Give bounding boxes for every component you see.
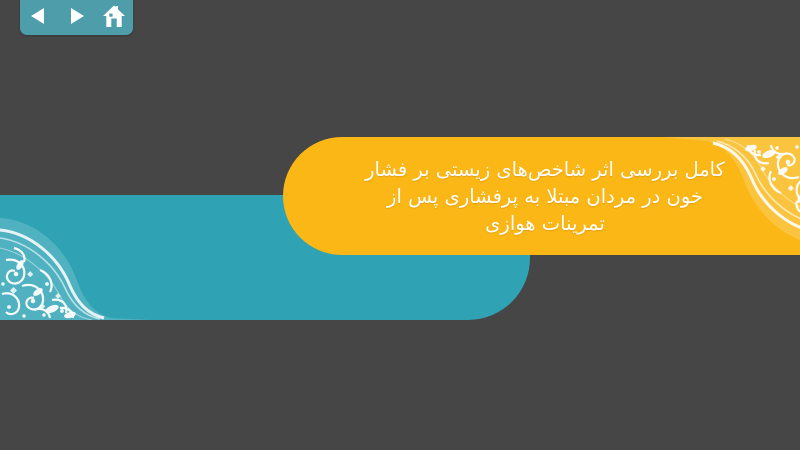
home-icon (102, 5, 126, 28)
slide-title: کامل بررسی اثر شاخص‌های زیستی بر فشار خو… (300, 138, 790, 254)
title-line-3: تمرینات هوازی (485, 210, 605, 237)
home-button[interactable] (101, 4, 127, 28)
title-line-1: کامل بررسی اثر شاخص‌های زیستی بر فشار (365, 156, 725, 183)
navigation-bar (20, 0, 133, 35)
arabesque-corner-ornament-teal (0, 208, 150, 320)
triangle-left-icon (30, 7, 47, 25)
back-button[interactable] (26, 4, 52, 28)
triangle-right-icon (68, 7, 85, 25)
forward-button[interactable] (63, 4, 89, 28)
slide-canvas: کامل بررسی اثر شاخص‌های زیستی بر فشار خو… (0, 0, 800, 450)
title-line-2: خون در مردان مبتلا به پرفشاری پس از (387, 183, 703, 210)
